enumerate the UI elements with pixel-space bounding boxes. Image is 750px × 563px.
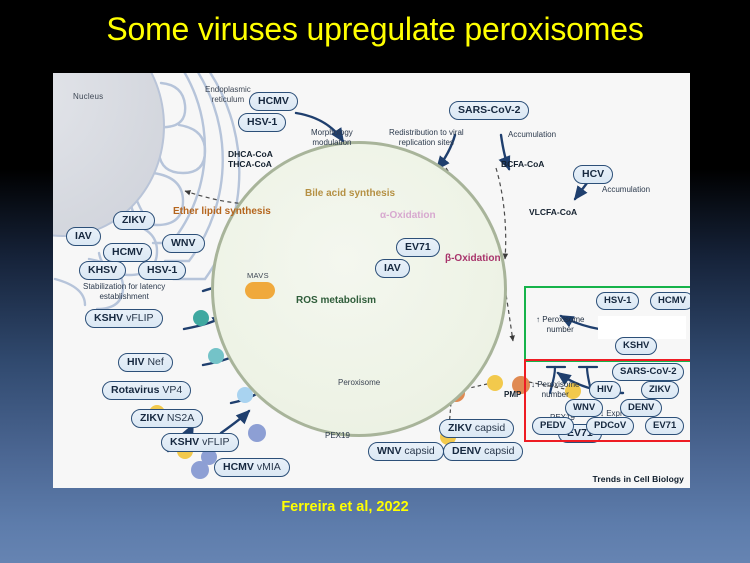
pill-virus-name: HCMV <box>223 461 254 473</box>
pill-protein-name: vMIA <box>257 461 281 473</box>
pill-hcv[interactable]: HCV <box>573 165 613 184</box>
pill-hsv1-increase[interactable]: HSV-1 <box>596 292 639 310</box>
pill-rotavirus-vp4[interactable]: Rotavirus VP4 <box>102 381 191 400</box>
increase-label-line1: ↑ Peroxisome <box>536 315 584 324</box>
pill-hsv1-er[interactable]: HSV-1 <box>138 261 186 280</box>
bcfa-coa-label: BCFA-CoA <box>501 159 544 169</box>
beta-oxidation-label: β-Oxidation <box>445 253 501 265</box>
redistribution-label: Redistribution to viral replication site… <box>389 128 464 148</box>
ros-metabolism-label: ROS metabolism <box>296 295 376 307</box>
bile-acid-synthesis-label: Bile acid synthesis <box>305 188 395 200</box>
vlcfa-coa-label: VLCFA-CoA <box>529 207 577 217</box>
mavs-protein-shape <box>245 282 275 299</box>
redistribution-line1: Redistribution to viral <box>389 128 464 137</box>
pill-wnv-er[interactable]: WNV <box>162 234 205 253</box>
alpha-oxidation-label: α-Oxidation <box>380 210 436 222</box>
pill-iav-inner[interactable]: IAV <box>375 259 410 278</box>
pill-ev71-inner[interactable]: EV71 <box>396 238 440 257</box>
journal-footer: Trends in Cell Biology <box>593 474 684 484</box>
pill-kshv-vflip-1[interactable]: KSHV vFLIP <box>85 309 163 328</box>
green-box-white-cover <box>598 316 686 339</box>
ether-lipid-synthesis-label: Ether lipid synthesis <box>173 206 271 218</box>
pill-protein-name: VP4 <box>162 384 182 396</box>
pill-virus-name: KSHV <box>170 436 199 448</box>
dhca-coa-label: DHCA-CoA <box>228 149 273 159</box>
pill-pdcov-decrease[interactable]: PDCoV <box>586 417 634 435</box>
pill-protein-name: NS2A <box>167 412 194 424</box>
presentation-slide: Some viruses upregulate peroxisomes <box>0 0 750 563</box>
pill-protein-name: capsid <box>404 445 434 457</box>
pill-protein-name: capsid <box>484 445 514 457</box>
stabilization-line1: Stabilization for latency <box>83 282 165 291</box>
pill-protein-name: vFLIP <box>126 312 153 324</box>
morphology-modulation-label: Morphology modulation <box>311 128 353 148</box>
stabilization-line2: establishment <box>99 292 148 301</box>
pill-kshv-increase[interactable]: KSHV <box>615 337 657 355</box>
pill-hcmv-top[interactable]: HCMV <box>249 92 298 111</box>
er-label-line2: reticulum <box>212 95 244 104</box>
figure-panel: Nucleus Endoplasmic reticulum Peroxisome… <box>53 73 690 488</box>
pill-protein-name: Nef <box>147 356 163 368</box>
pill-hcmv-vmia[interactable]: HCMV vMIA <box>214 458 290 477</box>
page-title: Some viruses upregulate peroxisomes <box>0 9 750 49</box>
pex19-left-label: PEX19 <box>325 431 350 441</box>
pill-virus-name: KSHV <box>94 312 123 324</box>
peroxisome-label: Peroxisome <box>338 378 380 387</box>
pill-denv-capsid[interactable]: DENV capsid <box>443 442 523 461</box>
pill-pedv-decrease[interactable]: PEDV <box>532 417 574 435</box>
morphology-line1: Morphology <box>311 128 353 137</box>
accumulation-hcv-label: Accumulation <box>602 185 650 195</box>
pill-ev71-decrease[interactable]: EV71 <box>645 417 684 435</box>
pill-iav-er[interactable]: IAV <box>66 227 101 246</box>
er-label-line1: Endoplasmic <box>205 85 251 94</box>
pill-hiv-decrease[interactable]: HIV <box>589 381 621 399</box>
pill-kshv-vflip-2[interactable]: KSHV vFLIP <box>161 433 239 452</box>
thca-coa-label: THCA-CoA <box>228 159 272 169</box>
pill-hcmv-er[interactable]: HCMV <box>103 243 152 262</box>
pill-protein-name: capsid <box>475 422 505 434</box>
pill-sars-cov-2-top[interactable]: SARS-CoV-2 <box>449 101 529 120</box>
pill-wnv-capsid[interactable]: WNV capsid <box>368 442 444 461</box>
pill-protein-name: vFLIP <box>202 436 229 448</box>
endoplasmic-reticulum-label: Endoplasmic reticulum <box>205 85 251 105</box>
pill-denv-decrease[interactable]: DENV <box>620 399 662 417</box>
pill-zikv-decrease[interactable]: ZIKV <box>641 381 679 399</box>
pill-virus-name: Rotavirus <box>111 384 159 396</box>
increase-label-line2: number <box>547 325 574 334</box>
pill-zikv-ns2a[interactable]: ZIKV NS2A <box>131 409 203 428</box>
citation-text: Ferreira et al, 2022 <box>0 499 750 515</box>
pill-hsv1-top[interactable]: HSV-1 <box>238 113 286 132</box>
nucleus-label: Nucleus <box>73 92 103 101</box>
pill-zikv-capsid[interactable]: ZIKV capsid <box>439 419 514 438</box>
pill-virus-name: HIV <box>127 356 145 368</box>
pill-khsv-er[interactable]: KHSV <box>79 261 126 280</box>
pill-virus-name: ZIKV <box>448 422 472 434</box>
morphology-line2: modulation <box>312 138 351 147</box>
decrease-label-line1: ↓ Peroxisome <box>531 380 579 389</box>
stabilization-label: Stabilization for latency establishment <box>83 282 165 302</box>
mavs-label: MAVS <box>247 271 269 280</box>
pill-virus-name: WNV <box>377 445 402 457</box>
decrease-peroxisome-number-label: ↓ Peroxisome number <box>531 380 579 400</box>
pill-virus-name: ZIKV <box>140 412 164 424</box>
decrease-label-line2: number <box>542 390 569 399</box>
accumulation-sars-label: Accumulation <box>508 130 556 140</box>
pmp-label: PMP <box>504 390 521 400</box>
pill-hcmv-increase[interactable]: HCMV <box>650 292 690 310</box>
pill-wnv-decrease[interactable]: WNV <box>565 399 603 417</box>
increase-peroxisome-number-label: ↑ Peroxisome number <box>536 315 584 335</box>
pill-sars-cov-2-decrease[interactable]: SARS-CoV-2 <box>612 363 684 381</box>
pill-zikv-er[interactable]: ZIKV <box>113 211 155 230</box>
pill-virus-name: DENV <box>452 445 481 457</box>
redistribution-line2: replication sites <box>399 138 454 147</box>
pill-hiv-nef[interactable]: HIV Nef <box>118 353 173 372</box>
